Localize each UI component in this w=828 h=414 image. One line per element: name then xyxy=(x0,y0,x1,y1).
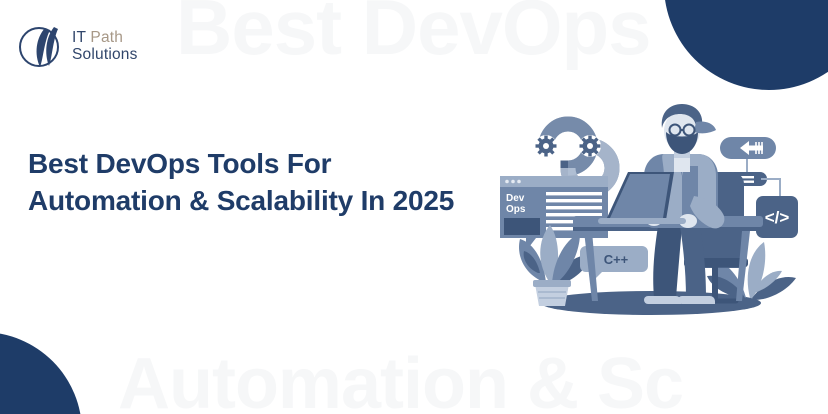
logo-mark-icon xyxy=(18,22,64,72)
page-title: Best DevOps Tools For Automation & Scala… xyxy=(28,145,478,219)
logo-wordmark: IT Path Solutions xyxy=(72,30,138,63)
browser-card-label-ops: Ops xyxy=(506,204,526,215)
watermark-text-top: Best DevOps xyxy=(176,0,651,66)
gear-icon-right xyxy=(579,135,601,157)
code-tag-label: </> xyxy=(765,208,790,227)
logo-word-it: IT xyxy=(72,29,90,46)
decorative-circle-bottom-left xyxy=(0,332,82,414)
decorative-circle-top-right xyxy=(664,0,828,90)
devops-illustration: Dev Ops xyxy=(488,98,798,323)
watermark-text-bottom: Automation & Sc xyxy=(118,348,683,414)
logo-line-one: IT Path xyxy=(72,30,138,47)
logo-word-path: Path xyxy=(90,29,123,46)
browser-card-label-dev: Dev xyxy=(506,193,525,204)
cpp-badge-label: C++ xyxy=(604,252,629,267)
brand-logo[interactable]: IT Path Solutions xyxy=(18,22,138,72)
logo-word-solutions: Solutions xyxy=(72,47,138,64)
blog-header-banner: Best DevOps Automation & Sc IT Path Solu… xyxy=(0,0,828,414)
gear-icon-left xyxy=(535,135,557,157)
